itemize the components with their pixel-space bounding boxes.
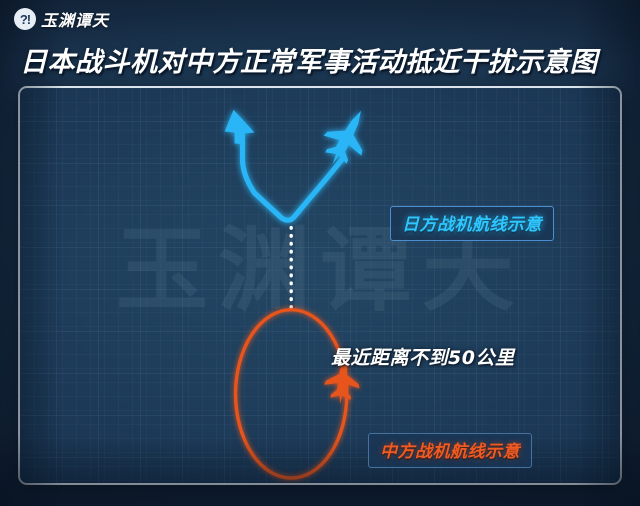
arrowhead-up-left xyxy=(225,110,255,145)
map-card: 玉渊谭天 xyxy=(18,86,622,485)
page-title: 日本战斗机对中方正常军事活动抵近干扰示意图 xyxy=(20,40,620,79)
circle-logo-icon: ?! xyxy=(14,8,36,30)
routes-svg xyxy=(20,88,620,483)
infographic-root: ?! 玉渊谭天 日本战斗机对中方正常军事活动抵近干扰示意图 玉渊谭天 xyxy=(0,0,640,506)
legend-japan-route[interactable]: 日方战机航线示意 xyxy=(390,206,554,241)
distance-label: 最近距离不到50公里 xyxy=(331,343,514,370)
brand-logo: ?! 玉渊谭天 xyxy=(14,7,109,31)
china-fighter-route xyxy=(236,310,363,478)
japan-fighter-route xyxy=(225,101,380,220)
brand-name: 玉渊谭天 xyxy=(41,7,109,31)
japan-fighter-jet-icon xyxy=(314,101,380,174)
legend-china-route[interactable]: 中方战机航线示意 xyxy=(368,433,532,468)
